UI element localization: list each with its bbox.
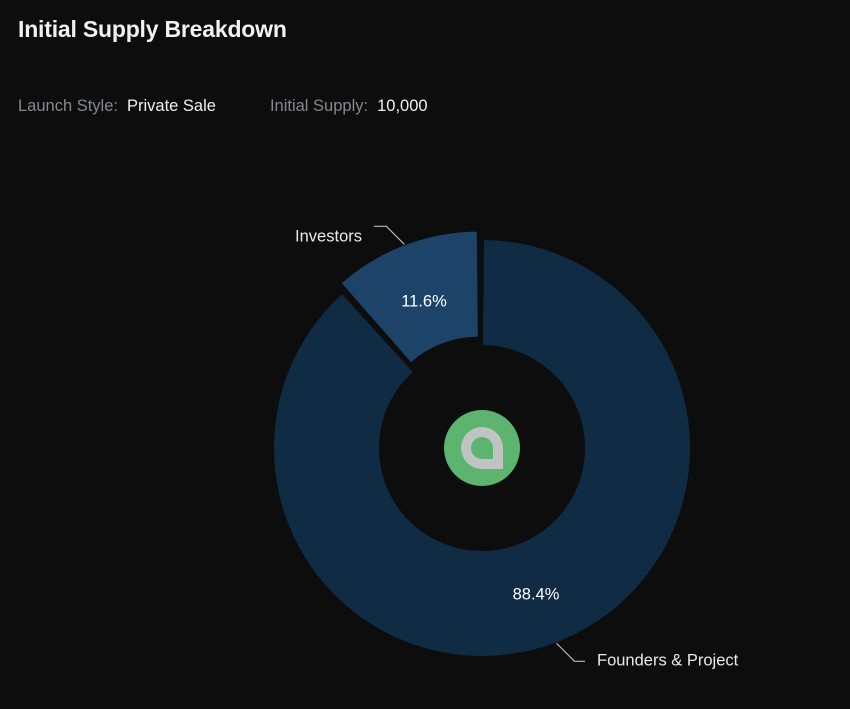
slice-percent-founders-project: 88.4% (513, 585, 560, 603)
center-logo (444, 410, 520, 486)
app-logo-circle (444, 410, 520, 486)
leader-line-investors (374, 226, 404, 244)
leader-line-founders-project (556, 643, 585, 661)
slice-percent-investors: 11.6% (401, 292, 447, 310)
slice-label-investors: Investors (295, 227, 362, 245)
donut-chart-svg: 11.6% 88.4% Investors Founders & Project (0, 0, 850, 709)
supply-breakdown-page: Initial Supply Breakdown Launch Style: P… (0, 0, 850, 709)
slice-label-founders-project: Founders & Project (597, 651, 739, 669)
supply-donut-chart: 11.6% 88.4% Investors Founders & Project (0, 0, 850, 709)
